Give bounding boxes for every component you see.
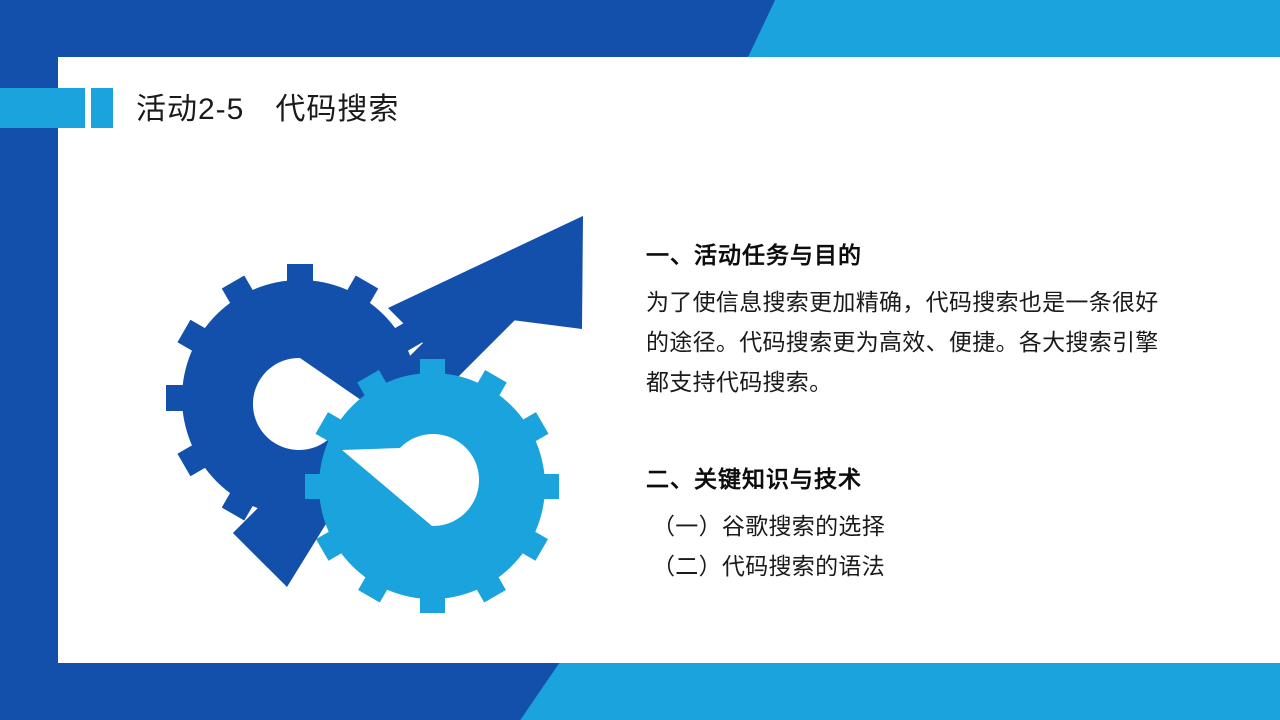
section-key-knowledge: 二、关键知识与技术 （一）谷歌搜索的选择 （二）代码搜索的语法 (646, 460, 1176, 586)
top-decorative-band (0, 0, 1280, 57)
top-band-light-segment (740, 0, 1280, 57)
content-column: 一、活动任务与目的 为了使信息搜索更加精确，代码搜索也是一条很好的途径。代码搜索… (646, 236, 1176, 586)
section-heading: 二、关键知识与技术 (646, 460, 1176, 494)
bottom-band-light-segment (500, 663, 1280, 720)
slide-root: 活动2-5 代码搜索 (0, 0, 1280, 720)
list-item: （一）谷歌搜索的选择 (646, 506, 1176, 546)
section-heading: 一、活动任务与目的 (646, 236, 1176, 270)
bottom-band-dark-segment (0, 663, 560, 720)
section-item-list: （一）谷歌搜索的选择 （二）代码搜索的语法 (646, 506, 1176, 586)
list-item: （二）代码搜索的语法 (646, 546, 1176, 586)
page-title: 活动2-5 代码搜索 (136, 92, 399, 128)
gears-arrow-illustration (140, 198, 600, 640)
top-band-dark-segment (0, 0, 790, 57)
section-body: 为了使信息搜索更加精确，代码搜索也是一条很好的途径。代码搜索更为高效、便捷。各大… (646, 282, 1176, 402)
title-accent-square (91, 88, 113, 128)
bottom-decorative-band (0, 663, 1280, 720)
title-accent-bar (0, 88, 85, 128)
section-activity-goal: 一、活动任务与目的 为了使信息搜索更加精确，代码搜索也是一条很好的途径。代码搜索… (646, 236, 1176, 402)
